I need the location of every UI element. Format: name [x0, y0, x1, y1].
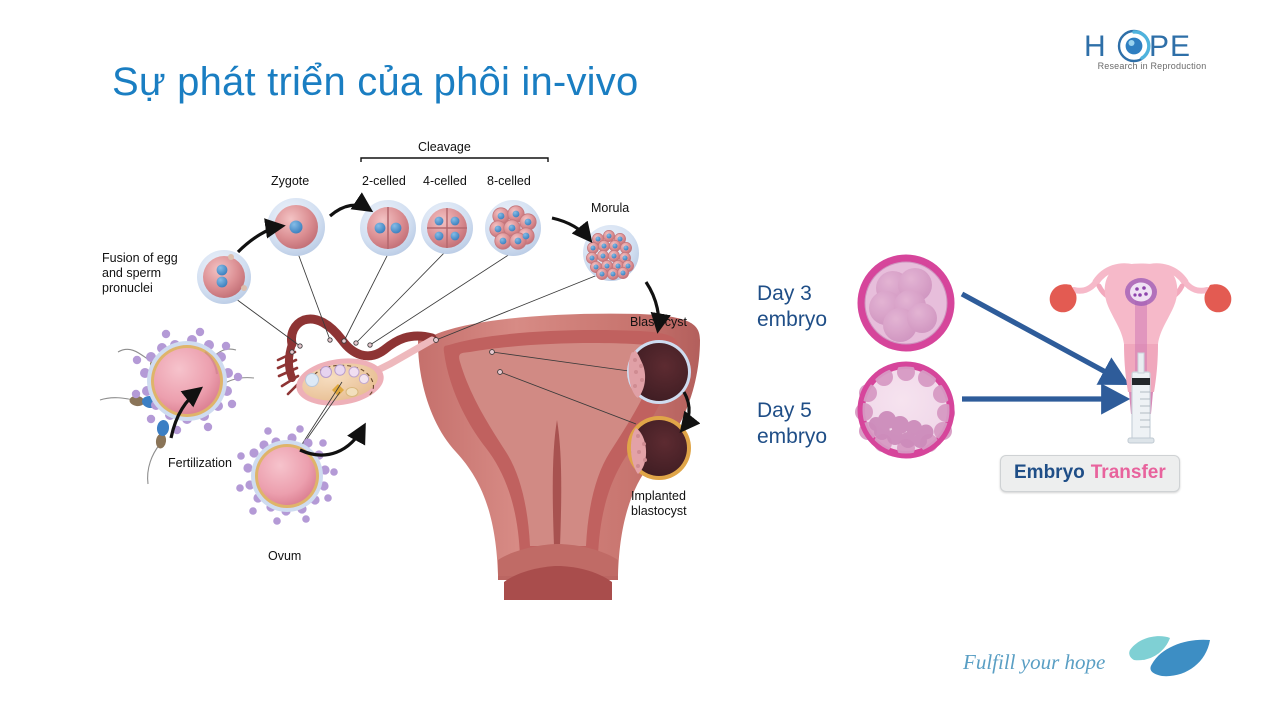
- hope-logo-tagline: Research in Reproduction: [1082, 61, 1222, 71]
- label-fusion-of-pronuclei: Fusion of egg and sperm pronuclei: [102, 251, 178, 296]
- page-title: Sự phát triển của phôi in-vivo: [112, 60, 638, 105]
- label-8-celled: 8-celled: [487, 174, 531, 189]
- label-zygote: Zygote: [271, 174, 309, 189]
- eight-celled-embryo: [485, 200, 541, 256]
- cleavage-bracket: [361, 158, 548, 162]
- embryo-transfer-badge[interactable]: EmbryoTransfer: [1000, 455, 1180, 492]
- uterus-cross-section: [418, 314, 700, 600]
- pronuclei-fusion-cell: [197, 250, 251, 304]
- implanted-blastocyst-cell: [627, 416, 691, 480]
- leader-lines: [232, 248, 636, 466]
- leaf-logo-mark: [1118, 628, 1218, 682]
- fallopian-tube-and-ovary: [278, 319, 432, 411]
- badge-word-embryo: Embryo: [1014, 462, 1085, 483]
- label-4-celled: 4-celled: [423, 174, 467, 189]
- hope-logo: H PE Research in Reproduction: [1082, 28, 1222, 78]
- day5-embryo-graphic: [855, 363, 955, 457]
- blastocyst-cell: [627, 340, 691, 404]
- fertilizing-ovum: [132, 328, 242, 434]
- label-implanted-blastocyst: Implanted blastocyst: [631, 489, 687, 519]
- label-morula: Morula: [591, 201, 629, 216]
- embryo-transfer-illustration: [0, 0, 1280, 720]
- arrow-day3: [962, 294, 1124, 382]
- label-2-celled: 2-celled: [362, 174, 406, 189]
- svg-text:PE: PE: [1149, 30, 1191, 63]
- zygote-cell: [267, 198, 325, 256]
- morula-cell: [583, 225, 639, 281]
- in-vivo-diagram: [0, 0, 1280, 720]
- ovum-cell: [236, 425, 338, 525]
- day5-embryo-label: Day 5 embryo: [757, 398, 827, 449]
- label-ovum: Ovum: [268, 549, 301, 564]
- four-celled-embryo: [421, 202, 473, 254]
- svg-text:H: H: [1084, 30, 1107, 63]
- day3-embryo-label: Day 3 embryo: [757, 281, 827, 332]
- process-arrows: [171, 205, 689, 455]
- two-celled-embryo: [360, 200, 416, 256]
- uterus-transfer-icon: [1050, 264, 1232, 444]
- label-fertilization: Fertilization: [168, 456, 232, 471]
- day3-embryo-graphic: [860, 257, 952, 349]
- label-blastocyst: Blastocyst: [630, 315, 687, 330]
- transfer-arrows: [962, 294, 1124, 399]
- footer-tagline: Fulfill your hope: [963, 650, 1105, 675]
- badge-word-transfer: Transfer: [1091, 462, 1166, 483]
- slide-canvas: Sự phát triển của phôi in-vivo H PE Rese…: [0, 0, 1280, 720]
- label-cleavage: Cleavage: [418, 140, 471, 155]
